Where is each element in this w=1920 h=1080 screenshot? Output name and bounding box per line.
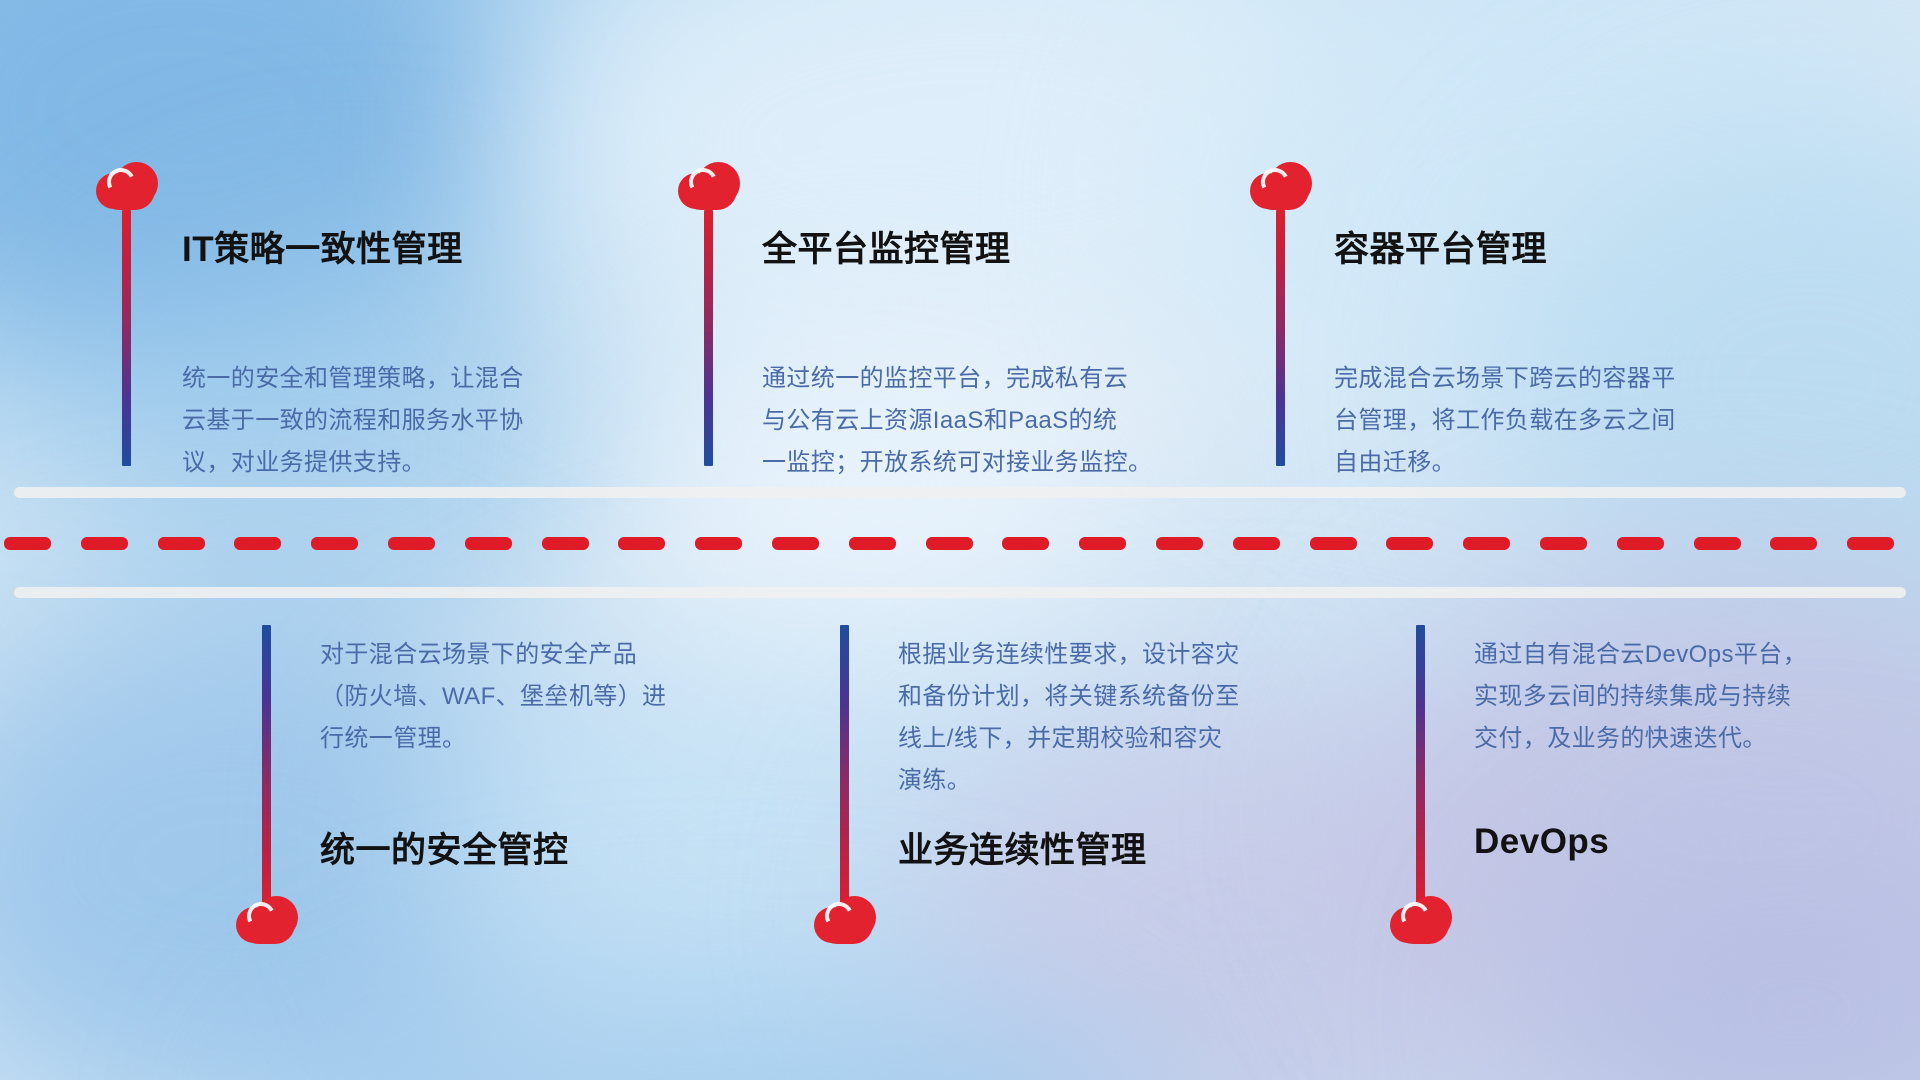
- top-node-1-title: IT策略一致性管理: [182, 221, 463, 272]
- top-node-2-description: 通过统一的监控平台，完成私有云 与公有云上资源IaaS和PaaS的统 一监控；开…: [762, 358, 1212, 484]
- divider-dash: [1310, 537, 1357, 550]
- divider-rail-top: [14, 487, 1906, 498]
- divider-dash: [1463, 537, 1510, 550]
- top-node-3-description: 完成混合云场景下跨云的容器平 台管理，将工作负载在多云之间 自由迁移。: [1334, 358, 1784, 484]
- connector-stem: [122, 210, 131, 466]
- divider-rail-bottom: [14, 587, 1906, 598]
- bottom-node-1-description: 对于混合云场景下的安全产品 （防火墙、WAF、堡垒机等）进 行统一管理。: [320, 634, 740, 760]
- bottom-node-1-title: 统一的安全管控: [320, 822, 569, 873]
- divider-dash: [542, 537, 589, 550]
- divider-dash: [4, 537, 51, 550]
- divider-dash: [1079, 537, 1126, 550]
- divider-dash: [311, 537, 358, 550]
- divider-dash: [772, 537, 819, 550]
- connector-stem: [1276, 210, 1285, 466]
- divider-dash: [465, 537, 512, 550]
- cloud-icon: [678, 162, 740, 210]
- divider-dash: [1233, 537, 1280, 550]
- infographic-canvas: IT策略一致性管理 统一的安全和管理策略，让混合 云基于一致的流程和服务水平协 …: [0, 0, 1920, 1080]
- bottom-node-2-description: 根据业务连续性要求，设计容灾 和备份计划，将关键系统备份至 线上/线下，并定期校…: [898, 634, 1318, 802]
- divider-dash: [1002, 537, 1049, 550]
- top-node-2-title: 全平台监控管理: [762, 221, 1011, 272]
- connector-stem: [840, 625, 849, 912]
- divider-dash: [1694, 537, 1741, 550]
- divider-dash: [1847, 537, 1894, 550]
- divider-dashed-line: [0, 537, 1920, 550]
- bottom-node-2-title: 业务连续性管理: [898, 822, 1147, 873]
- cloud-icon: [236, 896, 298, 944]
- cloud-icon: [96, 162, 158, 210]
- bottom-node-3-description: 通过自有混合云DevOps平台， 实现多云间的持续集成与持续 交付，及业务的快速…: [1474, 634, 1894, 760]
- divider-dash: [695, 537, 742, 550]
- cloud-icon: [1250, 162, 1312, 210]
- divider-dash: [1540, 537, 1587, 550]
- connector-stem: [1416, 625, 1425, 912]
- connector-stem: [704, 210, 713, 466]
- divider-dash: [926, 537, 973, 550]
- cloud-icon: [1390, 896, 1452, 944]
- divider-dash: [388, 537, 435, 550]
- divider-dash: [618, 537, 665, 550]
- top-node-3-title: 容器平台管理: [1334, 221, 1547, 272]
- divider-dash: [81, 537, 128, 550]
- divider-dash: [1156, 537, 1203, 550]
- bottom-node-3-title: DevOps: [1474, 822, 1609, 862]
- connector-stem: [262, 625, 271, 912]
- divider-dash: [849, 537, 896, 550]
- divider-dash: [234, 537, 281, 550]
- divider-dash: [1770, 537, 1817, 550]
- top-node-1-description: 统一的安全和管理策略，让混合 云基于一致的流程和服务水平协 议，对业务提供支持。: [182, 358, 612, 484]
- divider-dash: [1617, 537, 1664, 550]
- cloud-icon: [814, 896, 876, 944]
- divider-dash: [1386, 537, 1433, 550]
- divider-dash: [158, 537, 205, 550]
